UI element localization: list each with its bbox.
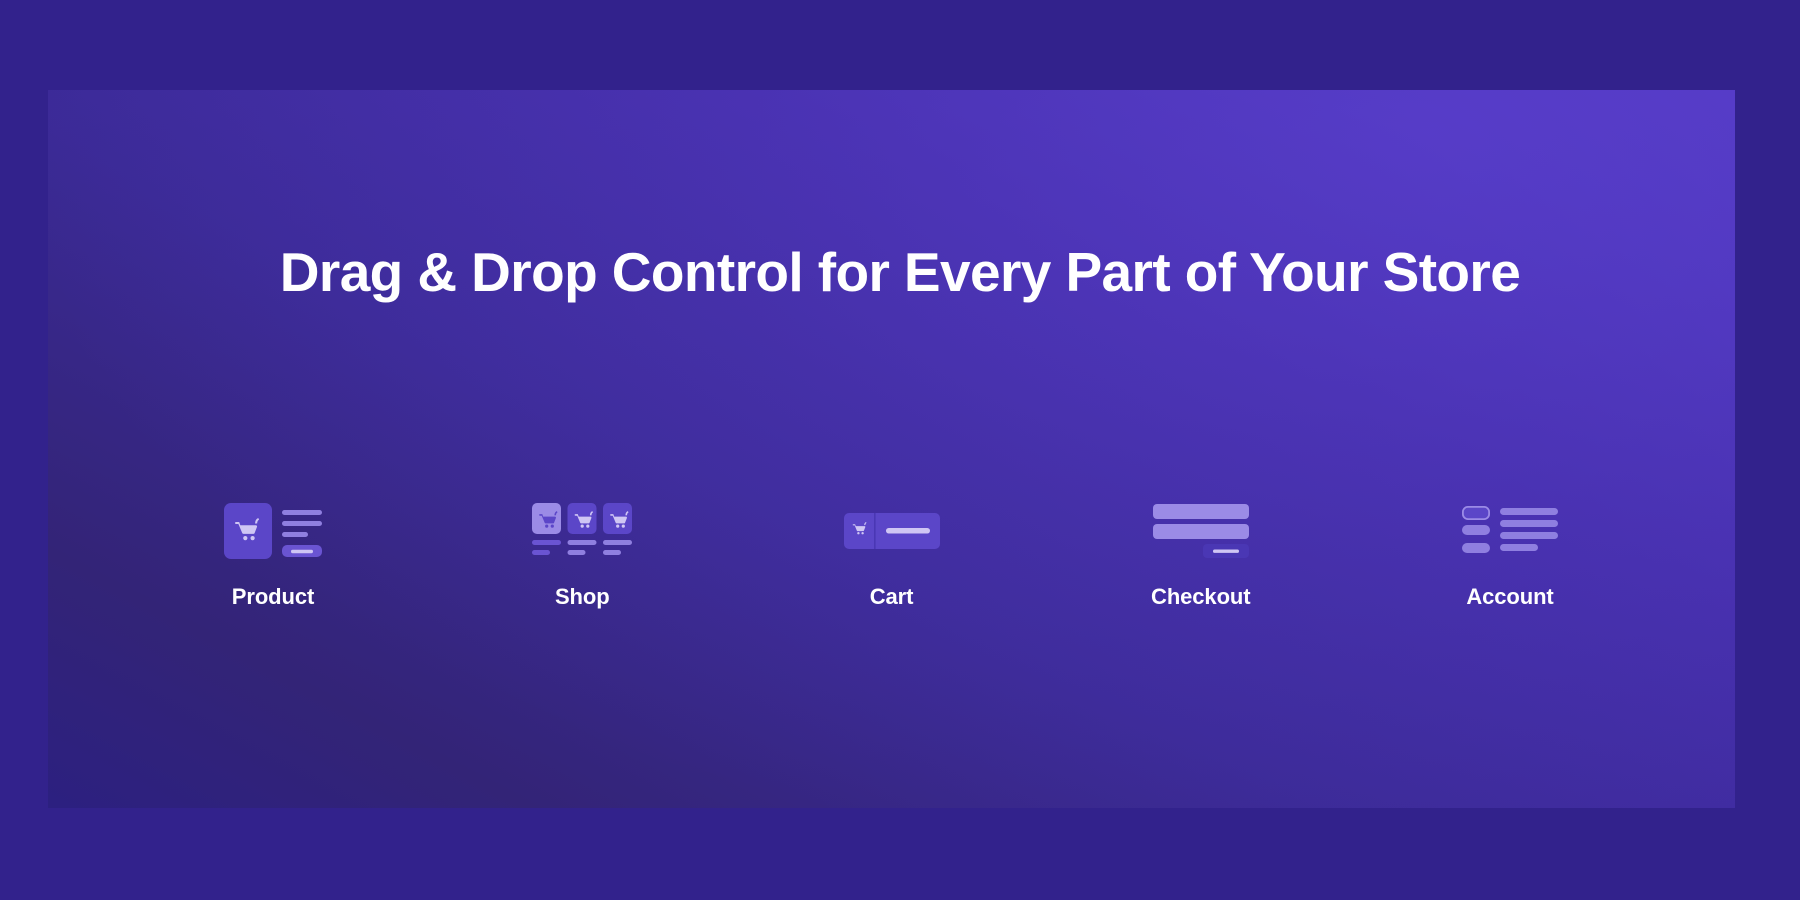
product-page-layout-icon bbox=[224, 500, 322, 562]
feature-label-checkout: Checkout bbox=[1151, 584, 1250, 610]
feature-label-product: Product bbox=[232, 584, 314, 610]
hero-glow-overlay bbox=[48, 90, 1735, 808]
feature-item-product[interactable]: Product bbox=[148, 500, 398, 610]
hero-banner: Drag & Drop Control for Every Part of Yo… bbox=[0, 0, 1800, 900]
checkout-form-layout-icon bbox=[1153, 500, 1249, 562]
feature-label-account: Account bbox=[1466, 584, 1553, 610]
hero-panel bbox=[48, 90, 1735, 808]
feature-item-cart[interactable]: Cart bbox=[767, 500, 1017, 610]
feature-list: Product bbox=[48, 500, 1735, 610]
cart-row-layout-icon bbox=[844, 500, 940, 562]
account-list-layout-icon bbox=[1462, 500, 1558, 562]
shop-grid-layout-icon bbox=[532, 500, 632, 562]
feature-item-checkout[interactable]: Checkout bbox=[1076, 500, 1326, 610]
feature-item-account[interactable]: Account bbox=[1385, 500, 1635, 610]
page-title: Drag & Drop Control for Every Part of Yo… bbox=[0, 244, 1800, 302]
feature-label-cart: Cart bbox=[870, 584, 914, 610]
feature-item-shop[interactable]: Shop bbox=[457, 500, 707, 610]
feature-label-shop: Shop bbox=[555, 584, 610, 610]
